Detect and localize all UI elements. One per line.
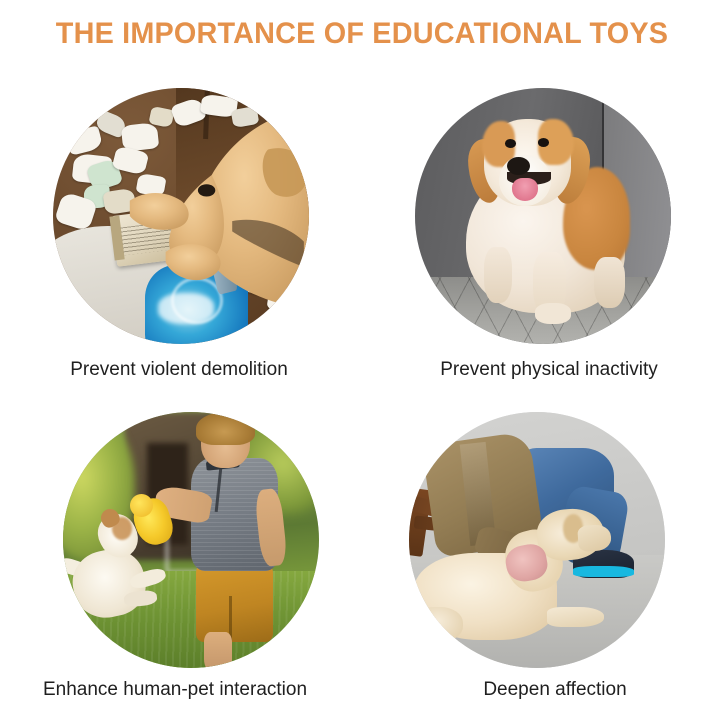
scene-boy-playing-with-dog [63, 412, 319, 668]
person-shoe-sole [573, 566, 634, 578]
caption-prevent-physical-inactivity: Prevent physical inactivity [368, 359, 724, 381]
beagle-rear-leg [594, 257, 625, 308]
caption-deepen-affection: Deepen affection [374, 679, 724, 701]
photo-prevent-physical-inactivity[interactable] [415, 88, 671, 344]
beagle-paw [535, 303, 571, 323]
feature-cell-prevent-violent-demolition: Prevent violent demolition [0, 76, 362, 402]
photo-deepen-affection[interactable] [409, 412, 665, 668]
photo-enhance-human-pet-interaction[interactable] [63, 412, 319, 668]
beagle-left-leg [484, 247, 512, 303]
feature-cell-enhance-human-pet-interaction: Enhance human-pet interaction [0, 400, 362, 726]
caption-prevent-violent-demolition: Prevent violent demolition [0, 359, 360, 381]
beagle-tongue [512, 178, 538, 201]
labrador-hind-quarters [412, 607, 463, 643]
boy-hair [196, 412, 255, 445]
caption-enhance-human-pet-interaction: Enhance human-pet interaction [0, 679, 356, 701]
boy-shorts [196, 560, 273, 642]
yellow-bone-toy-end [130, 494, 153, 517]
feature-cell-prevent-physical-inactivity: Prevent physical inactivity [362, 76, 724, 402]
beagle-eye-right [538, 138, 550, 147]
labrador-dog [53, 88, 309, 344]
labrador-paw [547, 607, 603, 627]
scene-overweight-beagle [415, 88, 671, 344]
page-title: THE IMPORTANCE OF EDUCATIONAL TOYS [14, 17, 709, 51]
scene-dog-shredded-paper [53, 88, 309, 344]
feature-cell-deepen-affection: Deepen affection [362, 400, 724, 726]
scene-person-petting-dog [409, 412, 665, 668]
boy-leg [204, 632, 232, 668]
photo-prevent-violent-demolition[interactable] [53, 88, 309, 344]
